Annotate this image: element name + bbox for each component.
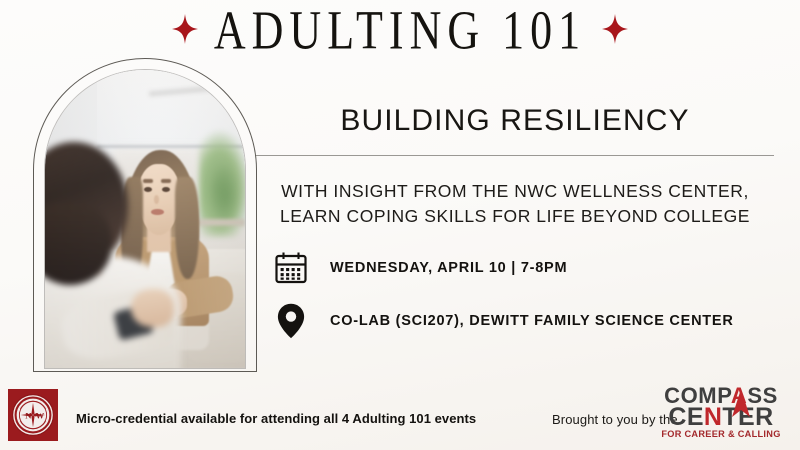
headline-divider (256, 155, 774, 156)
compass-needle-icon (730, 388, 752, 423)
event-date-text: WEDNESDAY, APRIL 10 | 7-8PM (330, 260, 567, 276)
event-location-row: CO-LAB (SCI207), DEWITT FAMILY SCIENCE C… (272, 303, 734, 339)
compass-logo-n-accent: N (704, 403, 722, 431)
nwc-seal-logo: N W (8, 389, 58, 441)
event-location-text: CO-LAB (SCI207), DEWITT FAMILY SCIENCE C… (330, 313, 734, 329)
svg-text:W: W (36, 410, 45, 420)
sparkle-star-left-icon (172, 14, 198, 49)
photo-scene (45, 70, 245, 368)
event-date-row: WEDNESDAY, APRIL 10 | 7-8PM (272, 251, 567, 285)
flyer-canvas: ADULTING 101 (0, 0, 800, 450)
event-subtitle-line-1: WITH INSIGHT FROM THE NWC WELLNESS CENTE… (256, 181, 774, 202)
event-subtitle-line-2: LEARN COPING SKILLS FOR LIFE BEYOND COLL… (256, 206, 774, 227)
compass-logo-line-2: CENTER (648, 405, 794, 430)
sparkle-star-right-icon (602, 14, 628, 49)
event-headline: BUILDING RESILIENCY (256, 104, 774, 138)
micro-credential-note: Micro-credential available for attending… (76, 411, 476, 426)
page-title: ADULTING 101 (214, 2, 586, 60)
compass-logo-ce: CE (668, 403, 704, 431)
calendar-icon (272, 251, 310, 285)
compass-center-logo: COMPASS CENTER FOR CAREER & CALLING (648, 385, 794, 439)
flyer-title-row: ADULTING 101 (0, 8, 800, 54)
svg-text:N: N (25, 410, 32, 420)
location-pin-icon (272, 303, 310, 339)
event-photo (45, 70, 245, 368)
compass-logo-tagline: FOR CAREER & CALLING (648, 430, 794, 439)
